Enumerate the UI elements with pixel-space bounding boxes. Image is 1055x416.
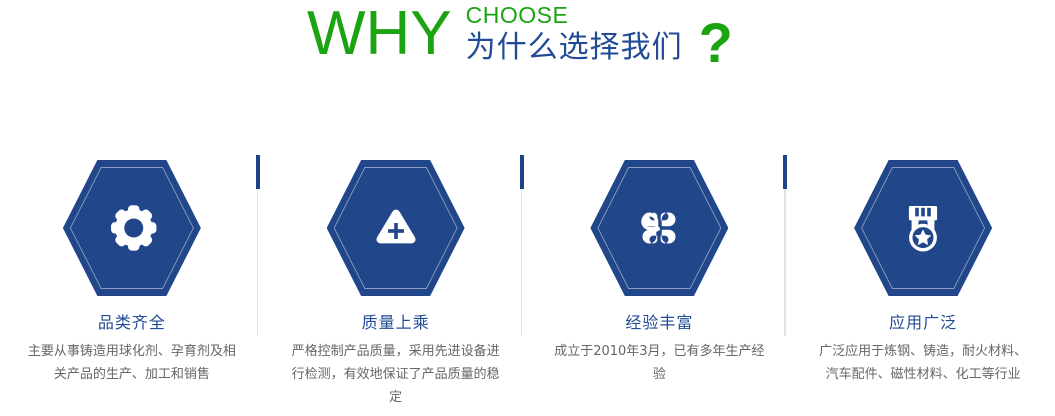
card-body: 成立于2010年3月，已有多年生产经验 <box>528 340 792 386</box>
feature-card-4: 应用广泛 广泛应用于炼钢、铸造，耐火材料、汽车配件、磁性材料、化工等行业 <box>791 150 1055 416</box>
feature-card-1: 品类齐全 主要从事铸造用球化剂、孕育剂及相关产品的生产、加工和销售 <box>0 150 264 416</box>
divider-blue-segment <box>783 155 787 189</box>
heading-why: WHY <box>307 2 452 66</box>
card-body: 主要从事铸造用球化剂、孕育剂及相关产品的生产、加工和销售 <box>0 340 264 386</box>
divider-blue-segment <box>256 155 260 189</box>
card-title: 质量上乘 <box>264 312 528 334</box>
hexagon-badge-1 <box>63 160 201 296</box>
card-title: 经验丰富 <box>528 312 792 334</box>
hexagon-badge-4 <box>854 160 992 296</box>
divider-grey-line <box>257 189 259 336</box>
heading-question-mark: ? <box>699 14 733 72</box>
feature-card-3: 经验丰富 成立于2010年3月，已有多年生产经验 <box>528 150 792 416</box>
column-divider-2 <box>520 155 524 336</box>
hexagon-badge-3 <box>590 160 728 296</box>
heading-choose: CHOOSE <box>466 2 683 28</box>
card-caption-4: 应用广泛 广泛应用于炼钢、铸造，耐火材料、汽车配件、磁性材料、化工等行业 <box>791 312 1055 386</box>
heading-choose-block: CHOOSE 为什么选择我们 <box>466 2 683 66</box>
card-body: 广泛应用于炼钢、铸造，耐火材料、汽车配件、磁性材料、化工等行业 <box>791 340 1055 386</box>
divider-grey-line <box>784 189 786 336</box>
triangle-plus-icon <box>327 160 465 296</box>
card-title: 应用广泛 <box>791 312 1055 334</box>
card-caption-3: 经验丰富 成立于2010年3月，已有多年生产经验 <box>528 312 792 386</box>
card-caption-1: 品类齐全 主要从事铸造用球化剂、孕育剂及相关产品的生产、加工和销售 <box>0 312 264 386</box>
card-caption-2: 质量上乘 严格控制产品质量，采用先进设备进行检测，有效地保证了产品质量的稳定 <box>264 312 528 409</box>
card-body: 严格控制产品质量，采用先进设备进行检测，有效地保证了产品质量的稳定 <box>264 340 528 409</box>
column-divider-1 <box>256 155 260 336</box>
hexagon-badge-2 <box>327 160 465 296</box>
heading-inner: WHY CHOOSE 为什么选择我们 ? <box>307 0 733 72</box>
gear-icon <box>63 160 201 296</box>
column-divider-3 <box>783 155 787 336</box>
feature-card-2: 质量上乘 严格控制产品质量，采用先进设备进行检测，有效地保证了产品质量的稳定 <box>264 150 528 416</box>
section-heading: WHY CHOOSE 为什么选择我们 ? <box>0 0 1055 95</box>
clover-icon <box>590 160 728 296</box>
heading-cn-subtitle: 为什么选择我们 <box>466 30 683 66</box>
feature-cards: 品类齐全 主要从事铸造用球化剂、孕育剂及相关产品的生产、加工和销售 质量上乘 严… <box>0 150 1055 416</box>
divider-grey-line <box>521 189 523 336</box>
card-title: 品类齐全 <box>0 312 264 334</box>
divider-blue-segment <box>520 155 524 189</box>
medal-star-icon <box>854 160 992 296</box>
